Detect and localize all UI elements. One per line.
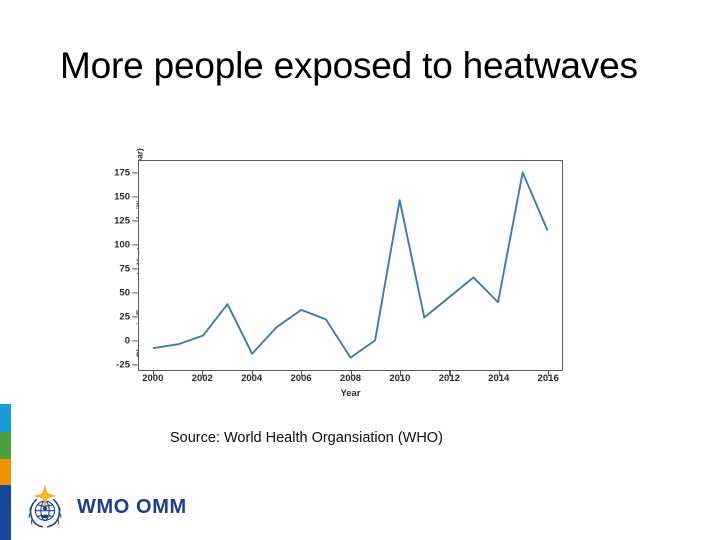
chart-y-tick-label: 150 (114, 191, 130, 202)
compass-star-icon (35, 486, 55, 506)
wmo-wordmark: WMO OMM (77, 496, 187, 519)
color-bar-segment-green (0, 432, 11, 459)
chart-y-tick-label: 100 (114, 239, 130, 250)
heatwave-exposure-chart: Change in Exposure to Heatwaves (million… (66, 145, 571, 410)
chart-y-tick-label: -25 (116, 360, 130, 371)
chart-x-tick-mark (548, 371, 549, 376)
chart-x-tick-mark (202, 371, 203, 376)
color-bar-segment-cyan (0, 404, 11, 432)
chart-y-tick-label: 25 (119, 312, 130, 323)
chart-y-tick-label: 0 (125, 336, 130, 347)
chart-x-tick-mark (153, 371, 154, 376)
chart-y-tick-label: 50 (119, 287, 130, 298)
chart-x-tick-mark (449, 371, 450, 376)
chart-y-tick-group: -250255075100125150175 (66, 160, 130, 371)
color-bar-segment-navy (0, 485, 11, 540)
chart-y-tick-label: 75 (119, 263, 130, 274)
chart-y-tick-mark (132, 292, 138, 293)
source-caption: Source: World Health Organsiation (WHO) (170, 430, 443, 446)
chart-y-tick-mark (132, 365, 138, 366)
chart-plot-area (138, 160, 563, 371)
chart-x-tick-mark (301, 371, 302, 376)
chart-x-tick-mark (351, 371, 352, 376)
chart-y-tick-label: 125 (114, 215, 130, 226)
slide-canvas: More people exposed to heatwaves Change … (0, 0, 720, 540)
chart-y-tick-mark (132, 196, 138, 197)
chart-line-svg (139, 161, 562, 370)
chart-y-tick-mark (132, 341, 138, 342)
chart-y-tick-label: 175 (114, 167, 130, 178)
chart-y-tick-mark (132, 244, 138, 245)
chart-x-tick-mark (252, 371, 253, 376)
wmo-logo: WMO OMM (22, 484, 187, 530)
chart-y-tick-mark (132, 268, 138, 269)
chart-series-line (154, 172, 547, 357)
chart-y-tick-mark (132, 220, 138, 221)
color-bar-segment-orange (0, 459, 11, 485)
chart-x-axis-label: Year (138, 388, 563, 399)
page-title: More people exposed to heatwaves (60, 44, 670, 88)
chart-x-tick-mark (400, 371, 401, 376)
chart-y-tick-mark (132, 172, 138, 173)
chart-x-tick-mark (499, 371, 500, 376)
wmo-globe-laurel-icon (22, 484, 68, 530)
brand-color-bar (0, 404, 11, 540)
chart-y-tick-mark (132, 316, 138, 317)
